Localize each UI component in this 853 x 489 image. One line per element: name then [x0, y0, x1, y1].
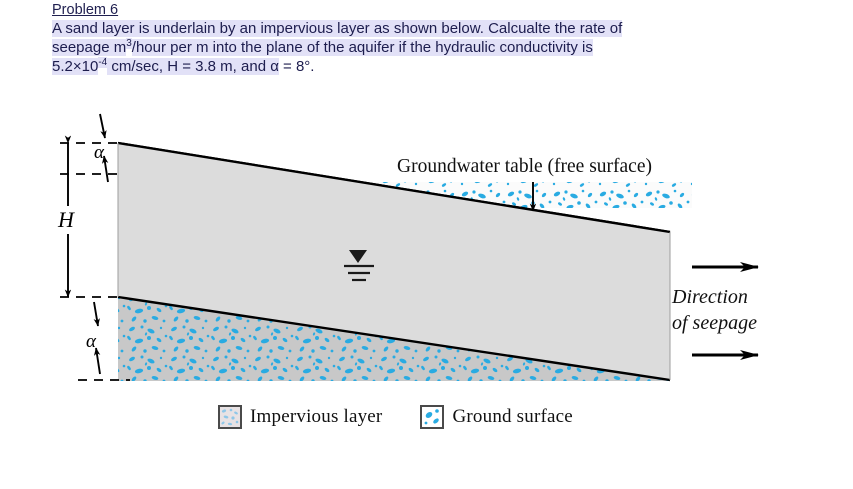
problem-line-2: seepage m3/hour per m into the plane of … — [52, 38, 712, 57]
ground-surface-swatch-icon — [420, 405, 444, 429]
problem-line-3-exponent: -4 — [98, 57, 107, 68]
groundwater-table-label: Groundwater table (free surface) — [397, 156, 652, 177]
H-label: H — [57, 207, 75, 232]
problem-line-1-text: A sand layer is underlain by an impervio… — [52, 20, 622, 37]
problem-line-2-text-a: seepage m — [52, 39, 126, 56]
alpha-bottom-upper-arrow — [94, 302, 98, 326]
seepage-direction-label-line2: of seepage — [672, 312, 757, 334]
problem-line-2-text-b: /hour per m into the plane of the aquife… — [132, 39, 593, 56]
alpha-top-label: α — [94, 142, 105, 163]
alpha-top-upper-arrow — [100, 114, 105, 138]
multiplication-sign: × — [73, 58, 82, 75]
seepage-direction-label-line1: Direction — [671, 286, 748, 308]
page-title: Problem 6 — [52, 2, 118, 19]
impervious-swatch-icon — [218, 405, 242, 429]
alpha-top-lower-arrow — [104, 156, 108, 182]
legend-label-impervious-layer: Impervious layer — [250, 406, 382, 428]
problem-title-row: Problem 6 — [52, 1, 712, 19]
alpha-symbol-text: α — [270, 58, 279, 75]
alpha-top-dimension: α — [94, 114, 108, 182]
alpha-bottom-label: α — [86, 331, 97, 352]
seepage-direction-annotation: Direction of seepage — [671, 267, 758, 355]
problem-statement: Problem 6 A sand layer is underlain by a… — [52, 1, 712, 76]
problem-line-3-tail: = 8°. — [279, 58, 315, 75]
alpha-bottom-dimension: α — [86, 302, 100, 374]
H-dimension: H — [52, 143, 84, 297]
problem-line-3-coefficient: 5.2 — [52, 58, 73, 75]
problem-line-3: 5.2×10-4 cm/sec, H = 3.8 m, and α = 8°. — [52, 57, 712, 76]
problem-line-3-units: cm/sec, H = 3.8 m, and — [107, 58, 270, 75]
problem-line-3-base: 10 — [82, 58, 99, 75]
legend-label-ground-surface: Ground surface — [452, 406, 572, 428]
problem-line-2-superscript: 3 — [126, 38, 132, 49]
legend-item-ground-surface: Ground surface — [420, 405, 572, 429]
figure-legend: Impervious layer Ground surface — [218, 405, 573, 429]
problem-line-1: A sand layer is underlain by an impervio… — [52, 19, 712, 38]
legend-item-impervious-layer: Impervious layer — [218, 405, 382, 429]
alpha-bottom-lower-arrow — [96, 348, 100, 374]
